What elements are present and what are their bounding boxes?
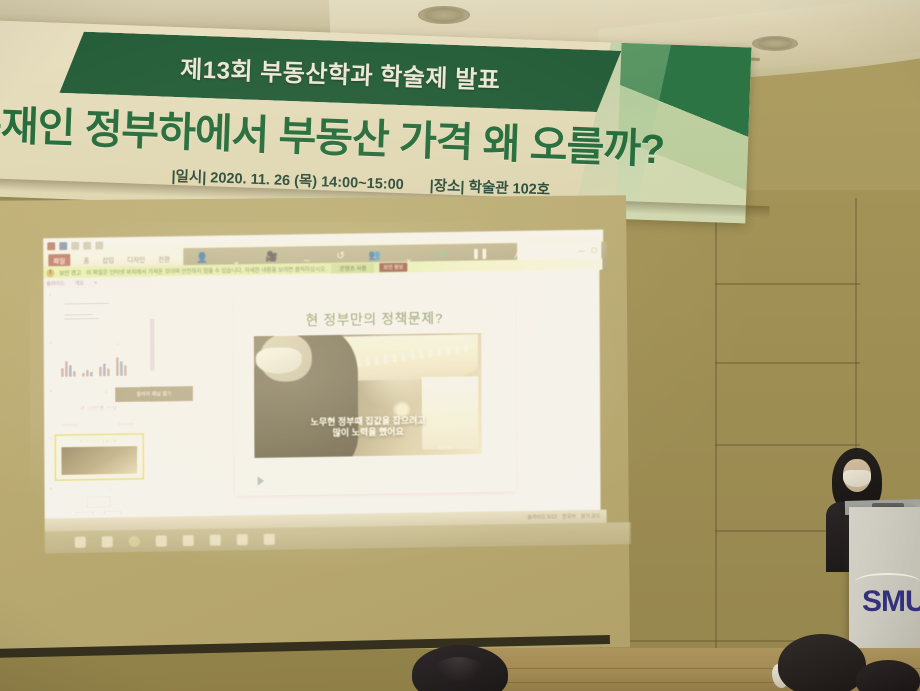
camera-icon: 🎥 — [265, 253, 278, 263]
undo-icon[interactable] — [71, 241, 79, 249]
enable-content-button[interactable]: 콘텐츠 사용 — [332, 263, 375, 274]
thumbnail-diagram — [56, 496, 142, 516]
pause-icon: ❚❚ — [472, 249, 489, 259]
chrome-icon[interactable] — [129, 535, 140, 546]
slide-number: 5 — [46, 434, 52, 441]
lecture-hall-photo: 제13회 부동산학과 학술제 발표 문재인 정부하에서 부동산 가격 왜 오를까… — [0, 0, 920, 691]
tab-design[interactable]: 디자인 — [127, 254, 145, 264]
thumbnail-title: 현 정부만의 정책문제? — [56, 438, 142, 445]
start-icon[interactable] — [75, 536, 86, 547]
embedded-video[interactable]: 노무현 정부때 집값을 잡으려고 많이 노력을 했어요 영상 출처 : MBC … — [254, 332, 483, 458]
slide-title: 현 정부만의 정책문제? — [235, 307, 515, 331]
thumbnail-big-text: 약 10만명 선상 — [55, 403, 141, 413]
thumbnail-bar-chart — [61, 354, 127, 377]
audience-head — [778, 634, 866, 691]
presenter-face-mask — [843, 470, 871, 487]
ceiling-vent-icon — [752, 36, 798, 51]
thumbnail-photo — [61, 446, 137, 475]
thumbnail-bullets — [64, 302, 118, 320]
list-item[interactable]: 5 현 정부만의 정책문제? — [46, 433, 150, 482]
powerpoint-app-icon — [47, 242, 55, 250]
tab-file[interactable]: 파일 — [48, 254, 70, 266]
diagram-row — [76, 511, 122, 516]
pane-tabs: 슬라이드 개요 × — [43, 277, 152, 290]
meeting-callout-label: 참여자 패널 열기 — [136, 390, 171, 398]
current-slide[interactable]: 현 정부만의 정책문제? 노무현 정부때 집값을 잡으려고 많이 노력을 했어 — [234, 291, 515, 495]
tab-home[interactable]: 홈 — [83, 255, 89, 265]
thumbnail-title: 다음 정부의 과제 — [56, 487, 142, 494]
list-item[interactable]: 6 다음 정부의 과제 — [46, 483, 150, 517]
save-icon[interactable] — [59, 241, 67, 249]
chat-icon: ■ — [440, 250, 446, 260]
person-icon: 👤 — [196, 254, 209, 264]
play-icon[interactable] — [257, 476, 264, 486]
share-icon: ↺ — [336, 252, 344, 262]
hangul-icon[interactable] — [237, 534, 248, 545]
list-item[interactable]: 2 목차 — [45, 289, 149, 336]
slide-number: 2 — [45, 290, 51, 297]
video-credit: 영상 출처 : MBC 뉴스 — [438, 445, 475, 452]
wall-seam — [715, 198, 717, 650]
minimize-icon[interactable]: — — [578, 247, 585, 254]
redo-icon[interactable] — [83, 241, 91, 249]
slide-thumbnail-pane[interactable]: 2 목차 3 최근 몇 년 부동산 상승률 — [45, 289, 150, 517]
status-view-mode: 보기 모드 — [581, 513, 601, 520]
search-icon[interactable] — [102, 536, 113, 547]
wall-seam — [715, 362, 860, 364]
tab-outline[interactable]: 개요 — [75, 280, 84, 287]
tab-insert[interactable]: 삽입 — [102, 254, 114, 264]
slide-editing-area[interactable]: 현 정부만의 정책문제? 노무현 정부때 집값을 잡으려고 많이 노력을 했어 — [156, 281, 600, 515]
security-warning-title: 보안 경고 — [59, 268, 81, 276]
wall-seam — [715, 283, 860, 285]
slide-thumbnail[interactable]: 최근 몇 년 부동산 상승률 — [54, 337, 142, 383]
thumbnail-footnotes — [61, 422, 135, 427]
banner-subtitle-text: 제13회 부동산학과 학술제 발표 — [180, 49, 501, 95]
zoom-icon[interactable] — [210, 534, 221, 545]
slide-thumbnail[interactable]: 목차 — [53, 289, 141, 335]
close-pane-icon[interactable]: × — [94, 280, 97, 286]
customize-icon[interactable] — [95, 241, 103, 249]
slide-number: 6 — [46, 484, 52, 491]
powerpoint-icon[interactable] — [183, 535, 194, 546]
wall-seam — [715, 444, 860, 446]
video-window — [422, 377, 478, 450]
place-label: |장소| — [429, 178, 464, 195]
video-progress-bar[interactable] — [269, 478, 493, 484]
explorer-icon[interactable] — [156, 535, 167, 546]
slide-number: 4 — [46, 386, 52, 393]
podium-logo: SMU — [862, 585, 920, 619]
ppt-workspace: 슬라이드 개요 × 2 목차 3 — [43, 270, 600, 519]
projected-powerpoint-window[interactable]: 파일 홈 삽입 디자인 전환 👤음소거 ⌄ 🎥비디오 시작 – ↺공유 👥참가자… — [43, 230, 601, 559]
participants-icon: 👥 — [368, 251, 381, 261]
slide-thumbnail[interactable]: 다음 정부의 과제 — [54, 483, 142, 517]
status-slide-counter: 슬라이드 5/12 — [527, 513, 557, 520]
media-icon[interactable] — [264, 533, 275, 544]
diagram-node — [76, 512, 94, 517]
thumbnail-title: 최근 몇 년 부동산 상승률 — [55, 341, 141, 348]
diagram-node — [87, 496, 111, 507]
slide-number: 3 — [46, 338, 52, 345]
meeting-callout[interactable]: 참여자 패널 열기 — [115, 386, 193, 402]
video-subtitle: 노무현 정부때 집값을 잡으려고 많이 노력을 했어요 — [254, 414, 482, 440]
security-info-button[interactable]: 보안 정보 — [379, 263, 407, 272]
ceiling-vent-icon — [418, 6, 470, 24]
tab-slides[interactable]: 슬라이드 — [46, 280, 64, 287]
shield-warning-icon: ! — [46, 269, 54, 277]
list-item[interactable]: 3 최근 몇 년 부동산 상승률 — [46, 337, 150, 384]
thumbnail-title: 목차 — [54, 293, 140, 300]
diagram-node — [104, 511, 122, 516]
date-label: |일시| — [171, 169, 206, 186]
tab-transitions[interactable]: 전환 — [158, 253, 170, 263]
restore-icon[interactable]: ☐ — [591, 247, 597, 255]
slide-thumbnail-selected[interactable]: 현 정부만의 정책문제? — [54, 433, 144, 481]
status-language: 한국어 — [562, 513, 576, 520]
